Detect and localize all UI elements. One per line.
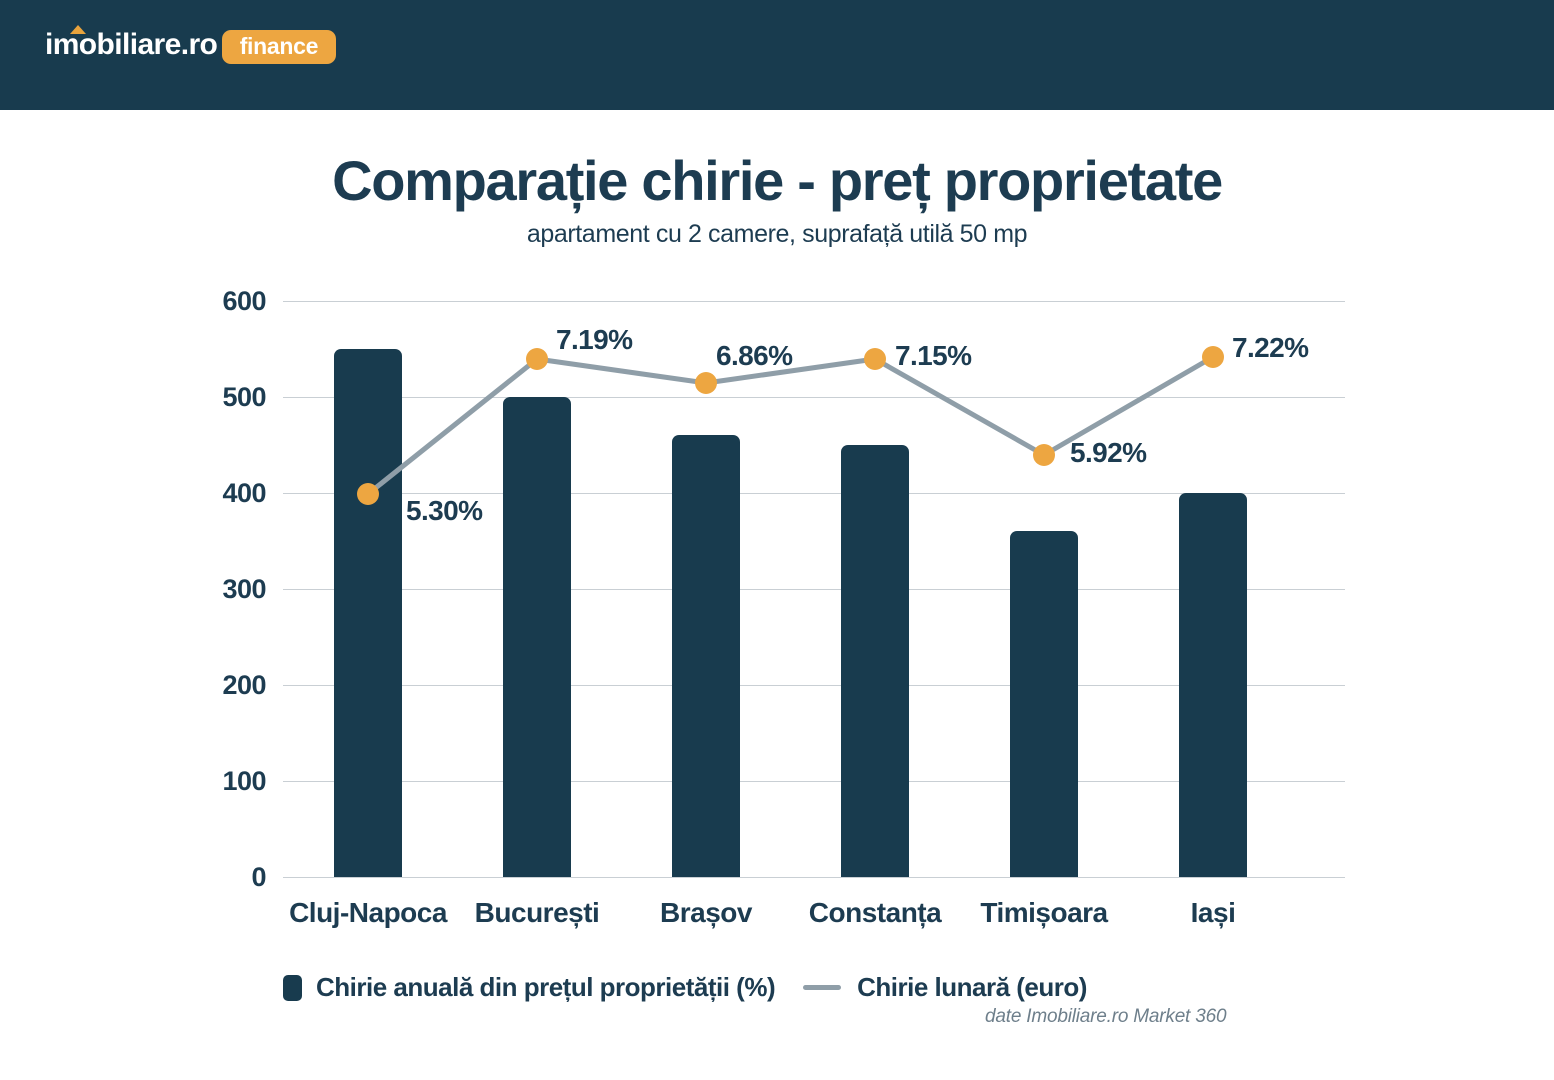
x-tick-label-cluj-napoca: Cluj-Napoca <box>258 897 478 929</box>
x-tick-label-timisoara: Timișoara <box>934 897 1154 929</box>
data-point-timisoara[interactable] <box>1033 444 1055 466</box>
bar-cluj-napoca[interactable] <box>334 349 402 877</box>
y-tick-label-100: 100 <box>196 766 266 797</box>
data-label-brasov: 6.86% <box>716 340 792 372</box>
legend-bar-swatch-icon <box>283 975 302 1001</box>
y-tick-label-300: 300 <box>196 574 266 605</box>
chart-title: Comparație chirie - preț proprietate <box>0 148 1554 213</box>
y-tick-label-0: 0 <box>196 862 266 893</box>
gridline-100 <box>283 781 1345 782</box>
source-note: date Imobiliare.ro Market 360 <box>985 1006 1226 1028</box>
bar-bucuresti[interactable] <box>503 397 571 877</box>
chart-subtitle: apartament cu 2 camere, suprafață utilă … <box>0 220 1554 249</box>
gridline-400 <box>283 493 1345 494</box>
bar-brasov[interactable] <box>672 435 740 877</box>
bar-iasi[interactable] <box>1179 493 1247 877</box>
gridline-300 <box>283 589 1345 590</box>
logo[interactable]: imobiliare.ro finance <box>45 22 365 64</box>
x-tick-label-brasov: Brașov <box>596 897 816 929</box>
y-tick-label-500: 500 <box>196 382 266 413</box>
data-point-iasi[interactable] <box>1202 346 1224 368</box>
x-tick-label-bucuresti: București <box>427 897 647 929</box>
data-point-cluj-napoca[interactable] <box>357 483 379 505</box>
data-label-cluj-napoca: 5.30% <box>406 495 482 527</box>
x-tick-label-constanta: Constanța <box>765 897 985 929</box>
data-label-iasi: 7.22% <box>1232 332 1308 364</box>
data-label-bucuresti: 7.19% <box>556 324 632 356</box>
gridline-600 <box>283 301 1345 302</box>
legend-item-bar[interactable]: Chirie anuală din prețul proprietății (%… <box>283 972 775 1003</box>
x-tick-label-iasi: Iași <box>1103 897 1323 929</box>
y-tick-label-200: 200 <box>196 670 266 701</box>
bar-constanta[interactable] <box>841 445 909 877</box>
y-tick-label-600: 600 <box>196 286 266 317</box>
legend-line-label: Chirie lunară (euro) <box>857 972 1087 1003</box>
line-series-path <box>368 357 1213 494</box>
legend-item-line[interactable]: Chirie lunară (euro) <box>775 972 1087 1003</box>
chart-legend: Chirie anuală din prețul proprietății (%… <box>283 972 1087 1003</box>
axis-baseline <box>283 877 1345 878</box>
data-point-bucuresti[interactable] <box>526 348 548 370</box>
roof-icon <box>70 25 86 34</box>
gridline-200 <box>283 685 1345 686</box>
bar-timisoara[interactable] <box>1010 531 1078 877</box>
logo-badge: finance <box>222 30 336 64</box>
data-point-constanta[interactable] <box>864 348 886 370</box>
header-band: imobiliare.ro finance <box>0 0 1554 110</box>
data-point-brasov[interactable] <box>695 372 717 394</box>
y-tick-label-400: 400 <box>196 478 266 509</box>
logo-wordmark: imobiliare.ro <box>45 30 217 60</box>
legend-bar-label: Chirie anuală din prețul proprietății (%… <box>316 972 775 1003</box>
gridline-500 <box>283 397 1345 398</box>
legend-line-swatch-icon <box>803 985 841 990</box>
data-label-timisoara: 5.92% <box>1070 437 1146 469</box>
data-label-constanta: 7.15% <box>895 340 971 372</box>
